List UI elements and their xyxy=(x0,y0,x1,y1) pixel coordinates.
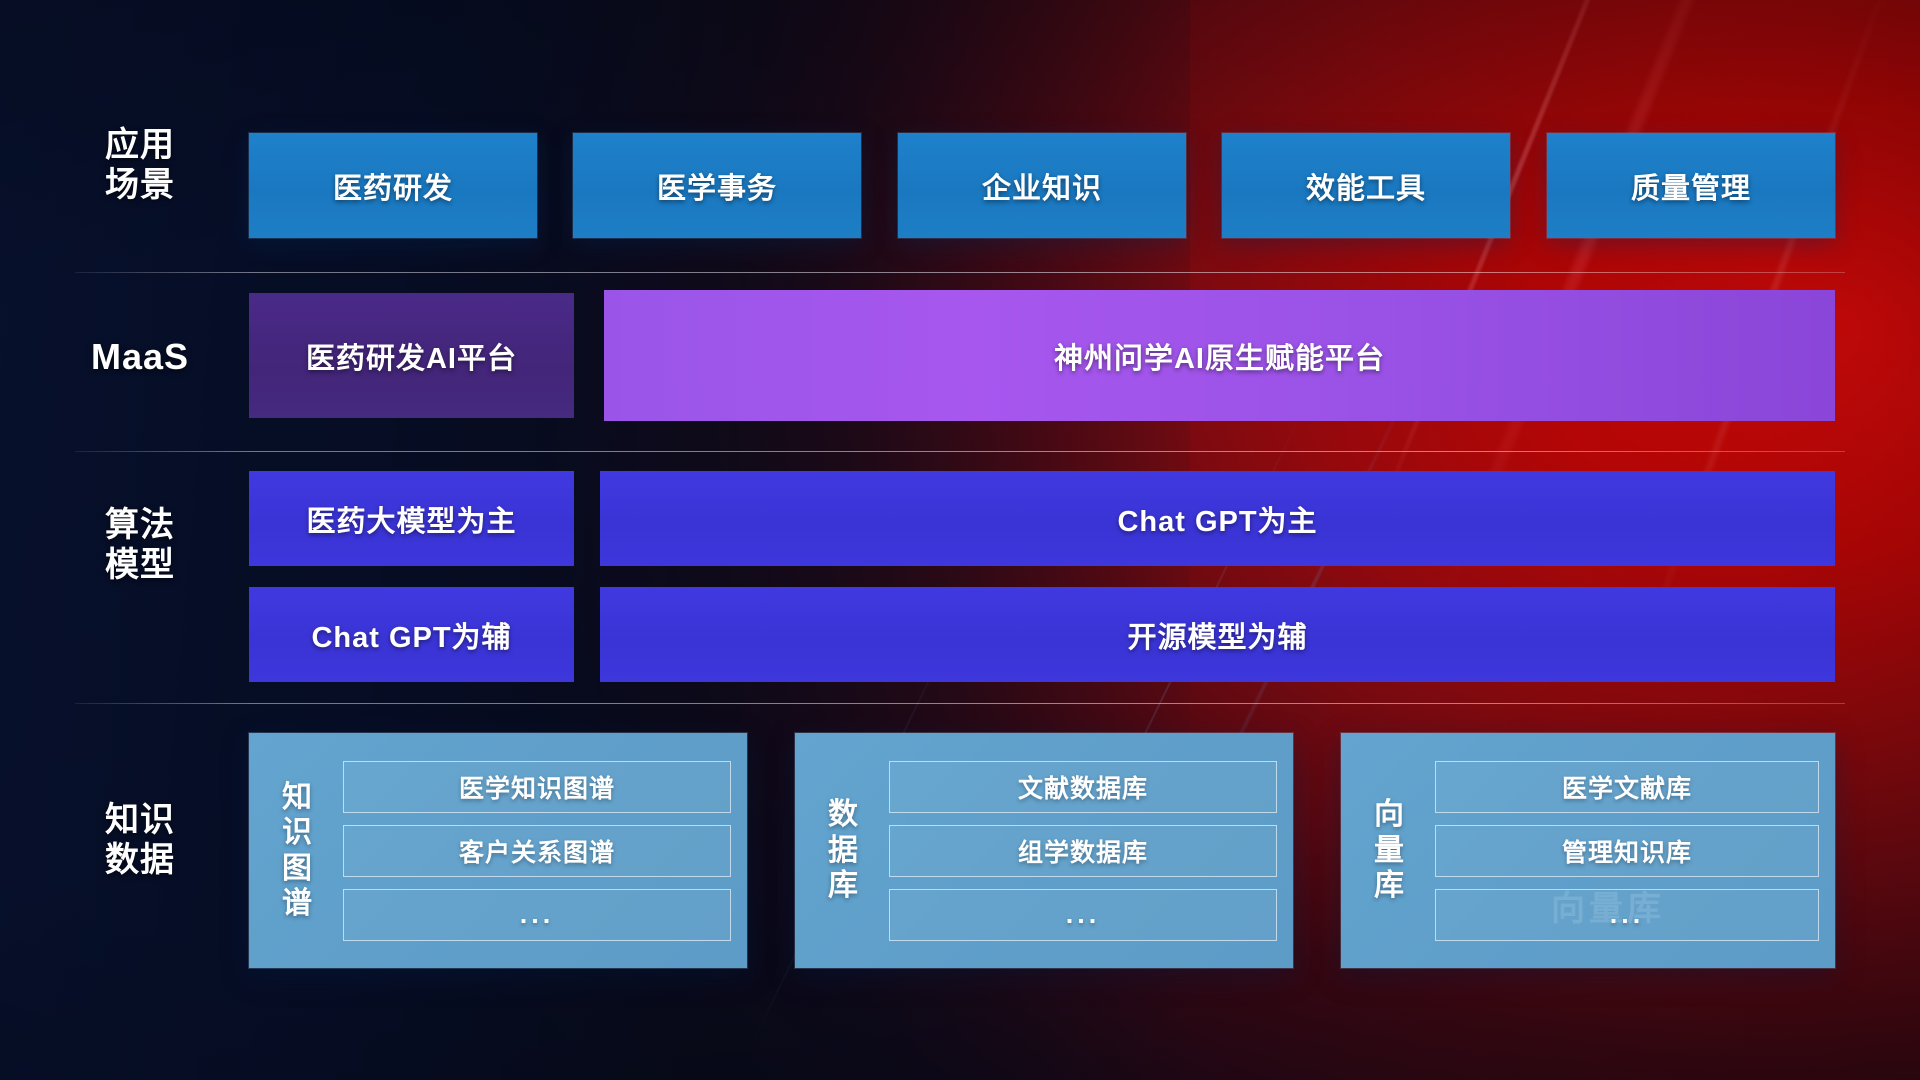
knowledge-group-title-knowledge-graph: 知 识 图 谱 xyxy=(267,780,329,922)
maas-box-pharma-ai-platform[interactable]: 医药研发AI平台 xyxy=(249,293,574,418)
knowledge-item[interactable]: 管理知识库 xyxy=(1435,825,1819,877)
vlabel-char: 数 xyxy=(828,797,860,832)
knowledge-item-more[interactable]: ... xyxy=(889,889,1277,941)
algorithm-box-pharma-llm-primary[interactable]: 医药大模型为主 xyxy=(249,471,574,566)
knowledge-item-more[interactable]: ... xyxy=(343,889,731,941)
row-label-application-scenarios: 应用 场景 xyxy=(75,125,205,205)
knowledge-group-title-vector-store: 向 量 库 xyxy=(1359,797,1421,903)
knowledge-group-title-database: 数 据 库 xyxy=(813,797,875,903)
knowledge-item[interactable]: 客户关系图谱 xyxy=(343,825,731,877)
row-divider-1 xyxy=(75,272,1845,273)
algorithm-box-chatgpt-primary[interactable]: Chat GPT为主 xyxy=(600,471,1835,566)
vlabel-char: 向 xyxy=(1374,797,1406,832)
algorithm-box-chatgpt-auxiliary[interactable]: Chat GPT为辅 xyxy=(249,587,574,682)
vlabel-char: 量 xyxy=(1374,833,1406,868)
app-scenario-box-4[interactable]: 效能工具 xyxy=(1222,133,1510,238)
knowledge-item[interactable]: 医学知识图谱 xyxy=(343,761,731,813)
app-scenario-box-1[interactable]: 医药研发 xyxy=(249,133,537,238)
app-scenario-box-5[interactable]: 质量管理 xyxy=(1547,133,1835,238)
knowledge-item[interactable]: 文献数据库 xyxy=(889,761,1277,813)
algorithm-box-opensource-auxiliary[interactable]: 开源模型为辅 xyxy=(600,587,1835,682)
vlabel-char: 识 xyxy=(282,815,314,850)
slide-canvas: 应用 场景 医药研发 医学事务 企业知识 效能工具 质量管理 MaaS 医药研发… xyxy=(0,0,1920,1080)
row-label-maas: MaaS xyxy=(75,336,205,378)
vlabel-char: 图 xyxy=(282,851,314,886)
app-scenario-box-2[interactable]: 医学事务 xyxy=(573,133,861,238)
vlabel-char: 库 xyxy=(828,868,860,903)
row-divider-2 xyxy=(75,451,1845,452)
app-scenario-box-3[interactable]: 企业知识 xyxy=(898,133,1186,238)
knowledge-item[interactable]: 医学文献库 xyxy=(1435,761,1819,813)
vlabel-char: 据 xyxy=(828,833,860,868)
row-label-algorithm-model: 算法 模型 xyxy=(75,505,205,585)
vlabel-char: 库 xyxy=(1374,868,1406,903)
knowledge-item[interactable]: 组学数据库 xyxy=(889,825,1277,877)
knowledge-group-knowledge-graph: 知 识 图 谱 医学知识图谱 客户关系图谱 ... xyxy=(249,733,747,968)
row-divider-3 xyxy=(75,703,1845,704)
knowledge-item-more[interactable]: ... xyxy=(1435,889,1819,941)
vlabel-char: 谱 xyxy=(282,886,314,921)
knowledge-group-vector-store: 向 量 库 医学文献库 管理知识库 ... 向量库 xyxy=(1341,733,1835,968)
vlabel-char: 知 xyxy=(282,780,314,815)
row-label-knowledge-data: 知识 数据 xyxy=(75,800,205,880)
maas-box-shenzhou-platform[interactable]: 神州问学AI原生赋能平台 xyxy=(604,290,1835,421)
knowledge-group-database: 数 据 库 文献数据库 组学数据库 ... xyxy=(795,733,1293,968)
